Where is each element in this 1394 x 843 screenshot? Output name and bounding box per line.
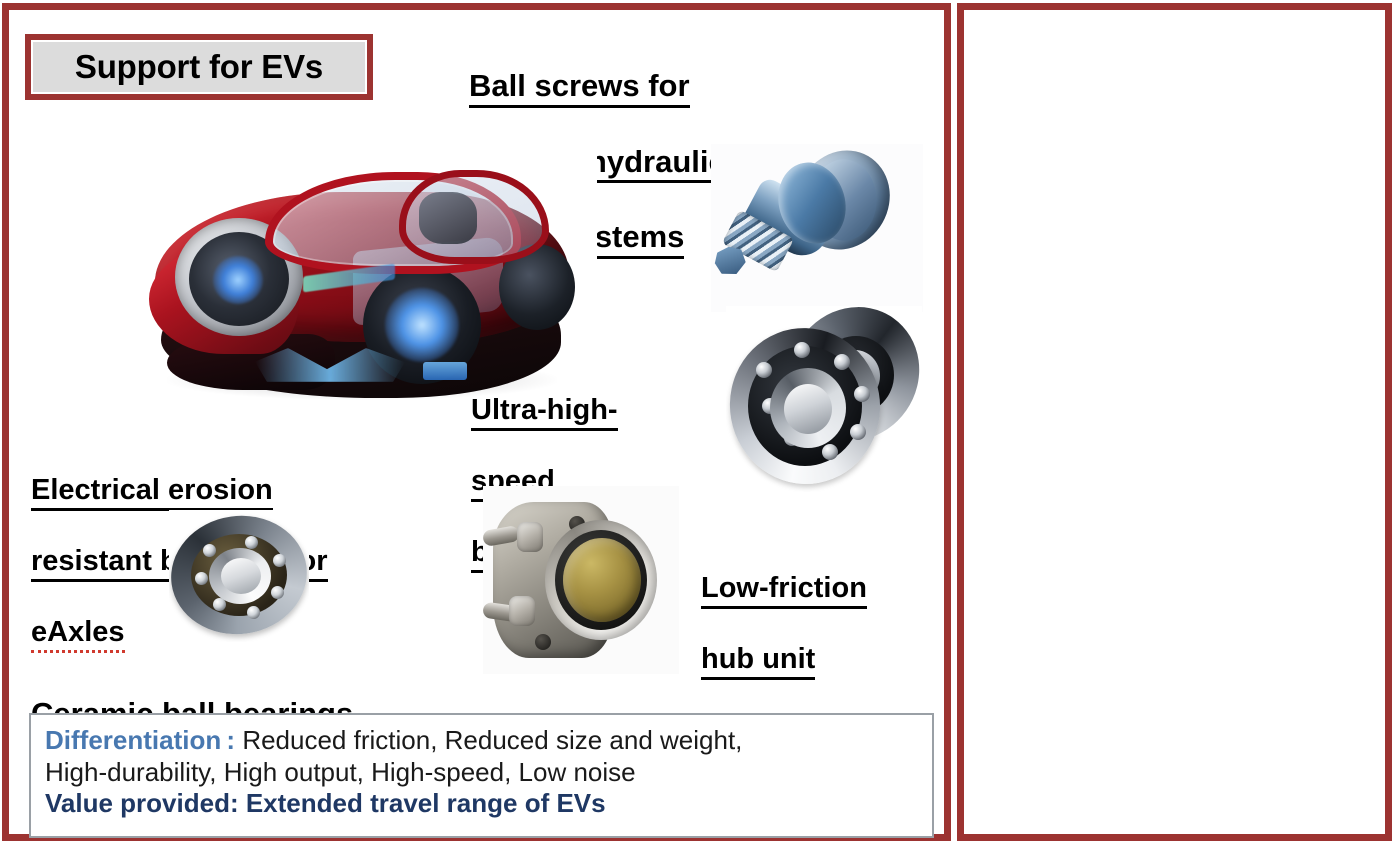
hub-bolt bbox=[517, 522, 543, 552]
label-hub-line-1: Low-friction bbox=[701, 572, 867, 609]
eaxle-bore bbox=[221, 558, 261, 594]
bearing-ball bbox=[756, 362, 772, 378]
image-hub-unit-bearing bbox=[483, 486, 679, 674]
eaxle-ball bbox=[195, 572, 208, 585]
section-title-support-for-evs: Support for EVs bbox=[25, 34, 373, 100]
bearing-ball bbox=[822, 444, 838, 460]
hub-hole bbox=[535, 634, 551, 650]
label-eaxle-line-3: eAxles bbox=[31, 616, 125, 653]
hub-bolt bbox=[509, 596, 535, 626]
bearing-ball bbox=[854, 386, 870, 402]
differentiation-text-1: Reduced friction, Reduced size and weigh… bbox=[235, 725, 742, 755]
differentiation-line-1: Differentiation : Reduced friction, Redu… bbox=[45, 725, 918, 757]
eaxle-ball bbox=[271, 586, 284, 599]
bearing-ball bbox=[834, 354, 850, 370]
image-ball-screw-actuator bbox=[711, 144, 923, 312]
panel-railways: Railways Vibrator control actuator for r… bbox=[957, 3, 1392, 841]
car-rear-wheel-glow bbox=[385, 288, 459, 362]
image-ball-bearings bbox=[726, 306, 922, 492]
car-interior bbox=[419, 192, 477, 244]
value-provided-line: Value provided: Extended travel range of… bbox=[45, 788, 918, 820]
car-badge bbox=[423, 362, 467, 380]
eaxle-ball bbox=[247, 606, 260, 619]
slide-canvas: Support for EVs Ball screws for electric… bbox=[0, 0, 1394, 843]
label-ball-screws-line-1: Ball screws for bbox=[469, 68, 690, 107]
differentiation-line-2: High-durability, High output, High-speed… bbox=[45, 757, 918, 789]
differentiation-heading: Differentiation : bbox=[45, 725, 235, 755]
panel-support-for-evs: Support for EVs Ball screws for electric… bbox=[2, 3, 951, 841]
hub-end-cap bbox=[563, 538, 641, 622]
car-front-wheel-glow bbox=[213, 256, 263, 304]
eaxle-ball bbox=[273, 554, 286, 567]
eaxle-ball bbox=[245, 536, 258, 549]
label-uhs-line-1: Ultra-high- bbox=[471, 394, 618, 431]
bearing-front-bore bbox=[784, 384, 832, 434]
section-title-text: Support for EVs bbox=[75, 48, 323, 86]
bearing-ball bbox=[794, 342, 810, 358]
label-eaxle-line-1: Electrical erosion bbox=[31, 474, 273, 511]
eaxle-ball bbox=[203, 544, 216, 557]
label-hub-line-2: hub unit bbox=[701, 643, 815, 680]
image-eaxle-bearing bbox=[169, 510, 309, 642]
differentiation-box-evs: Differentiation : Reduced friction, Redu… bbox=[29, 713, 934, 838]
bearing-ball bbox=[850, 424, 866, 440]
